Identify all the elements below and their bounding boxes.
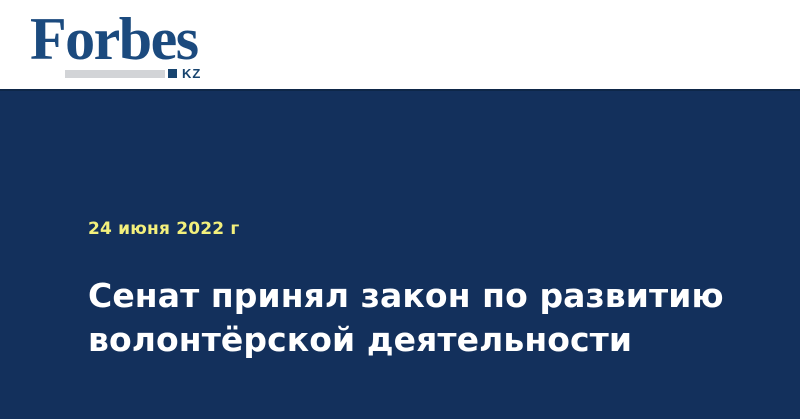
article-share-card: Forbes KZ 24 июня 2022 г Сенат принял за… <box>0 0 800 419</box>
blue-square-icon <box>168 69 177 78</box>
article-body-panel: 24 июня 2022 г Сенат принял закон по раз… <box>0 89 800 419</box>
logo-underline-bar <box>65 70 165 78</box>
forbes-wordmark: Forbes <box>30 8 198 70</box>
article-headline: Сенат принял закон по развитию волонтёрс… <box>88 274 748 362</box>
site-header-band: Forbes KZ <box>0 0 800 89</box>
logo-edition-label: KZ <box>182 67 201 80</box>
headline-line-1: Сенат принял закон по развитию <box>88 274 748 318</box>
headline-line-2: волонтёрской деятельности <box>88 318 748 362</box>
article-date: 24 июня 2022 г <box>88 219 240 239</box>
forbes-kz-logo[interactable]: Forbes KZ <box>30 8 260 82</box>
